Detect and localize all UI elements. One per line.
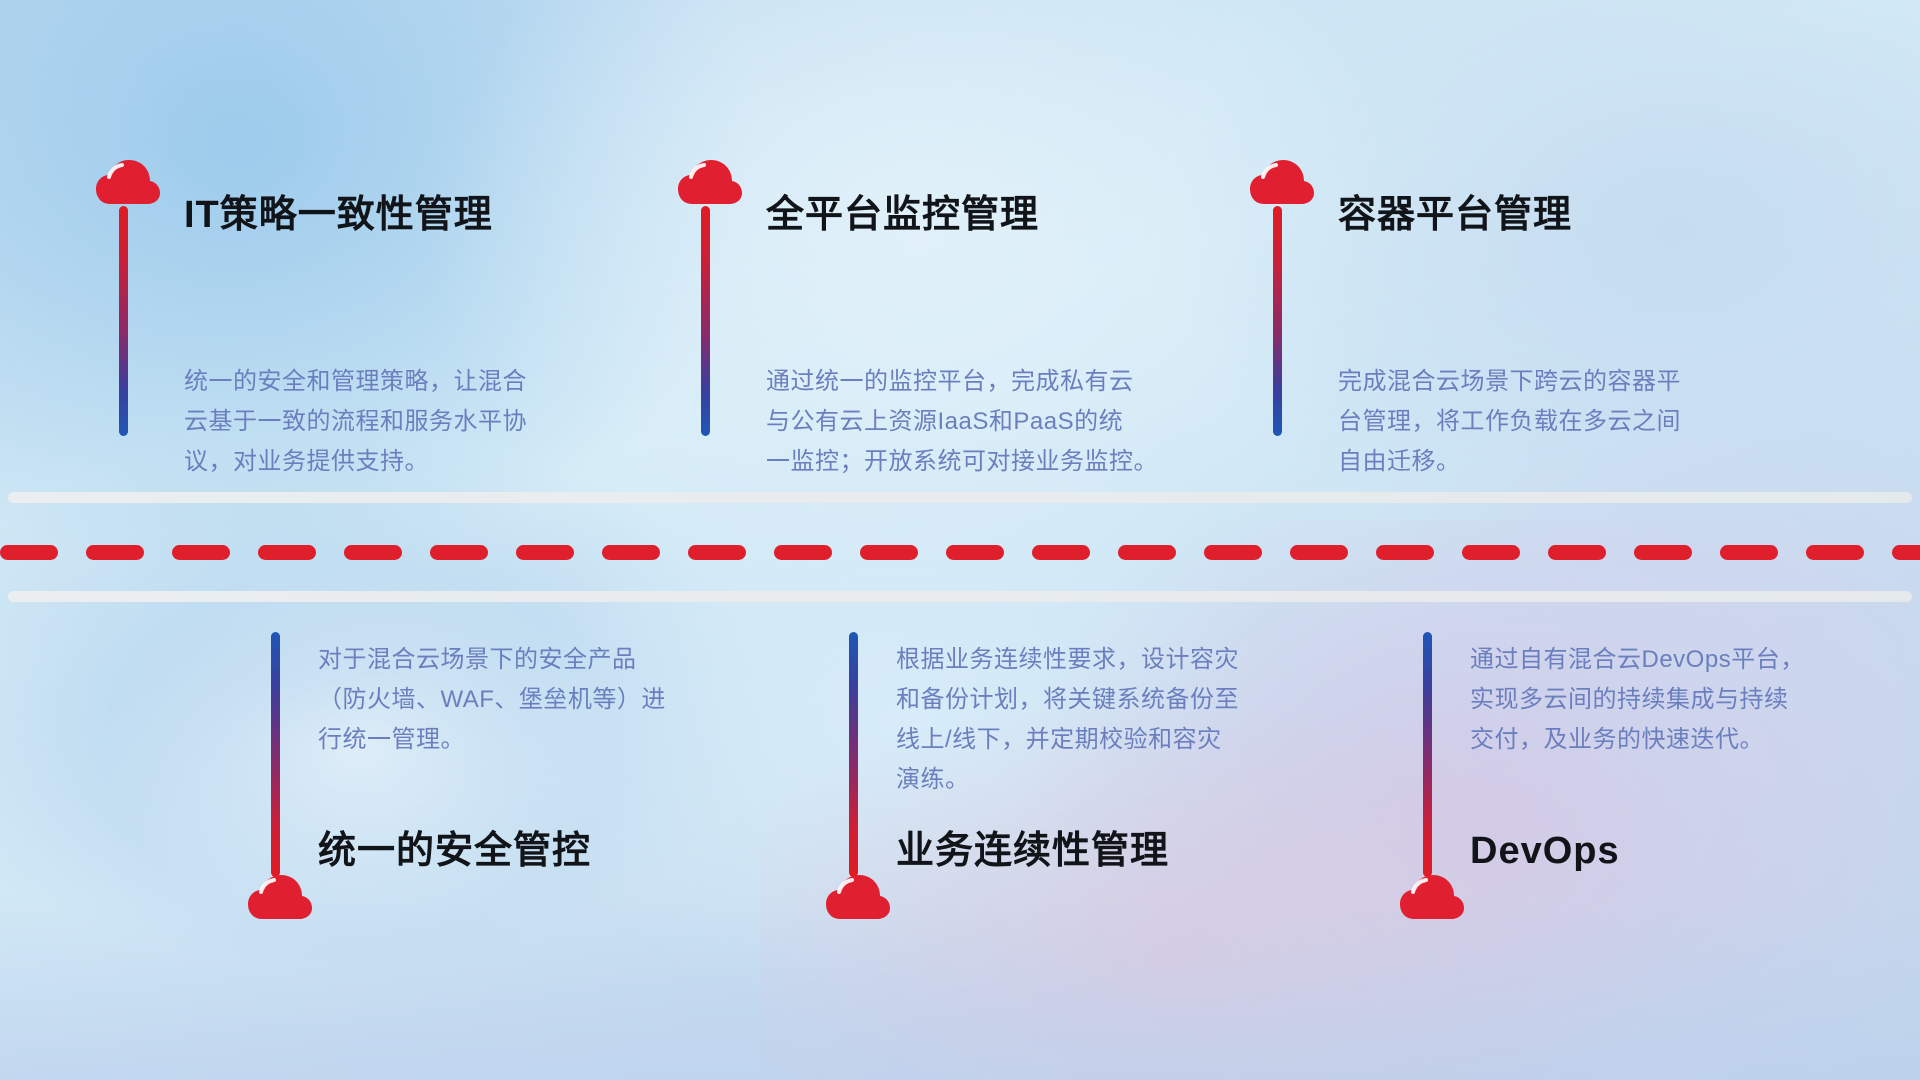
divider-dash bbox=[1892, 545, 1920, 560]
divider-dash bbox=[344, 545, 402, 560]
cloud-icon bbox=[826, 875, 890, 923]
top-item-2: 全平台监控管理 通过统一的监控平台，完成私有云 与公有云上资源IaaS和PaaS… bbox=[678, 160, 742, 436]
infographic-canvas: IT策略一致性管理 统一的安全和管理策略，让混合 云基于一致的流程和服务水平协 … bbox=[0, 0, 1920, 1080]
divider-dash bbox=[688, 545, 746, 560]
divider-dash bbox=[1720, 545, 1778, 560]
divider-dash bbox=[602, 545, 660, 560]
bottom-item-3: 通过自有混合云DevOps平台， 实现多云间的持续集成与持续 交付，及业务的快速… bbox=[1400, 632, 1464, 923]
connector-stem bbox=[701, 206, 710, 436]
cloud-icon bbox=[96, 160, 160, 208]
bottom-item-3-title: DevOps bbox=[1470, 832, 1620, 870]
divider-dash bbox=[860, 545, 918, 560]
background-glow bbox=[0, 900, 1920, 1080]
connector-stem bbox=[849, 632, 858, 877]
top-item-1-title: IT策略一致性管理 bbox=[184, 196, 493, 234]
top-item-3: 容器平台管理 完成混合云场景下跨云的容器平 台管理，将工作负载在多云之间 自由迁… bbox=[1250, 160, 1314, 436]
divider-dash bbox=[86, 545, 144, 560]
top-item-2-title: 全平台监控管理 bbox=[766, 196, 1039, 234]
bottom-item-3-body: 通过自有混合云DevOps平台， 实现多云间的持续集成与持续 交付，及业务的快速… bbox=[1470, 640, 1890, 760]
divider-line-bottom bbox=[8, 591, 1912, 602]
divider-dash bbox=[1462, 545, 1520, 560]
divider-dash bbox=[1118, 545, 1176, 560]
cloud-icon bbox=[1400, 875, 1464, 923]
cloud-icon bbox=[678, 160, 742, 208]
bottom-item-2: 根据业务连续性要求，设计容灾 和备份计划，将关键系统备份至 线上/线下，并定期校… bbox=[826, 632, 890, 923]
bottom-item-1-title: 统一的安全管控 bbox=[318, 832, 591, 870]
cloud-icon bbox=[248, 875, 312, 923]
connector-stem bbox=[1273, 206, 1282, 436]
cloud-icon bbox=[1250, 160, 1314, 208]
connector-stem bbox=[271, 632, 280, 877]
top-item-3-body: 完成混合云场景下跨云的容器平 台管理，将工作负载在多云之间 自由迁移。 bbox=[1338, 362, 1788, 482]
top-item-1: IT策略一致性管理 统一的安全和管理策略，让混合 云基于一致的流程和服务水平协 … bbox=[96, 160, 160, 436]
bottom-item-1: 对于混合云场景下的安全产品 （防火墙、WAF、堡垒机等）进 行统一管理。 统一的… bbox=[248, 632, 312, 923]
divider-dash bbox=[430, 545, 488, 560]
divider-dash bbox=[1204, 545, 1262, 560]
divider-dash bbox=[1376, 545, 1434, 560]
divider-dash bbox=[946, 545, 1004, 560]
divider-dash bbox=[774, 545, 832, 560]
top-item-2-body: 通过统一的监控平台，完成私有云 与公有云上资源IaaS和PaaS的统 一监控；开… bbox=[766, 362, 1236, 482]
divider-dash bbox=[1634, 545, 1692, 560]
divider-dashed-line bbox=[0, 544, 1920, 560]
bottom-item-2-body: 根据业务连续性要求，设计容灾 和备份计划，将关键系统备份至 线上/线下，并定期校… bbox=[896, 640, 1326, 800]
bottom-item-1-body: 对于混合云场景下的安全产品 （防火墙、WAF、堡垒机等）进 行统一管理。 bbox=[318, 640, 748, 760]
connector-stem bbox=[1423, 632, 1432, 877]
divider-dash bbox=[0, 545, 58, 560]
top-item-3-title: 容器平台管理 bbox=[1338, 196, 1572, 234]
top-item-1-body: 统一的安全和管理策略，让混合 云基于一致的流程和服务水平协 议，对业务提供支持。 bbox=[184, 362, 614, 482]
divider-dash bbox=[1032, 545, 1090, 560]
divider-line-top bbox=[8, 492, 1912, 503]
divider-dash bbox=[1290, 545, 1348, 560]
divider-dash bbox=[1548, 545, 1606, 560]
divider-dash bbox=[258, 545, 316, 560]
bottom-item-2-title: 业务连续性管理 bbox=[896, 832, 1169, 870]
divider-dash bbox=[172, 545, 230, 560]
connector-stem bbox=[119, 206, 128, 436]
divider-dash bbox=[1806, 545, 1864, 560]
divider-dash bbox=[516, 545, 574, 560]
